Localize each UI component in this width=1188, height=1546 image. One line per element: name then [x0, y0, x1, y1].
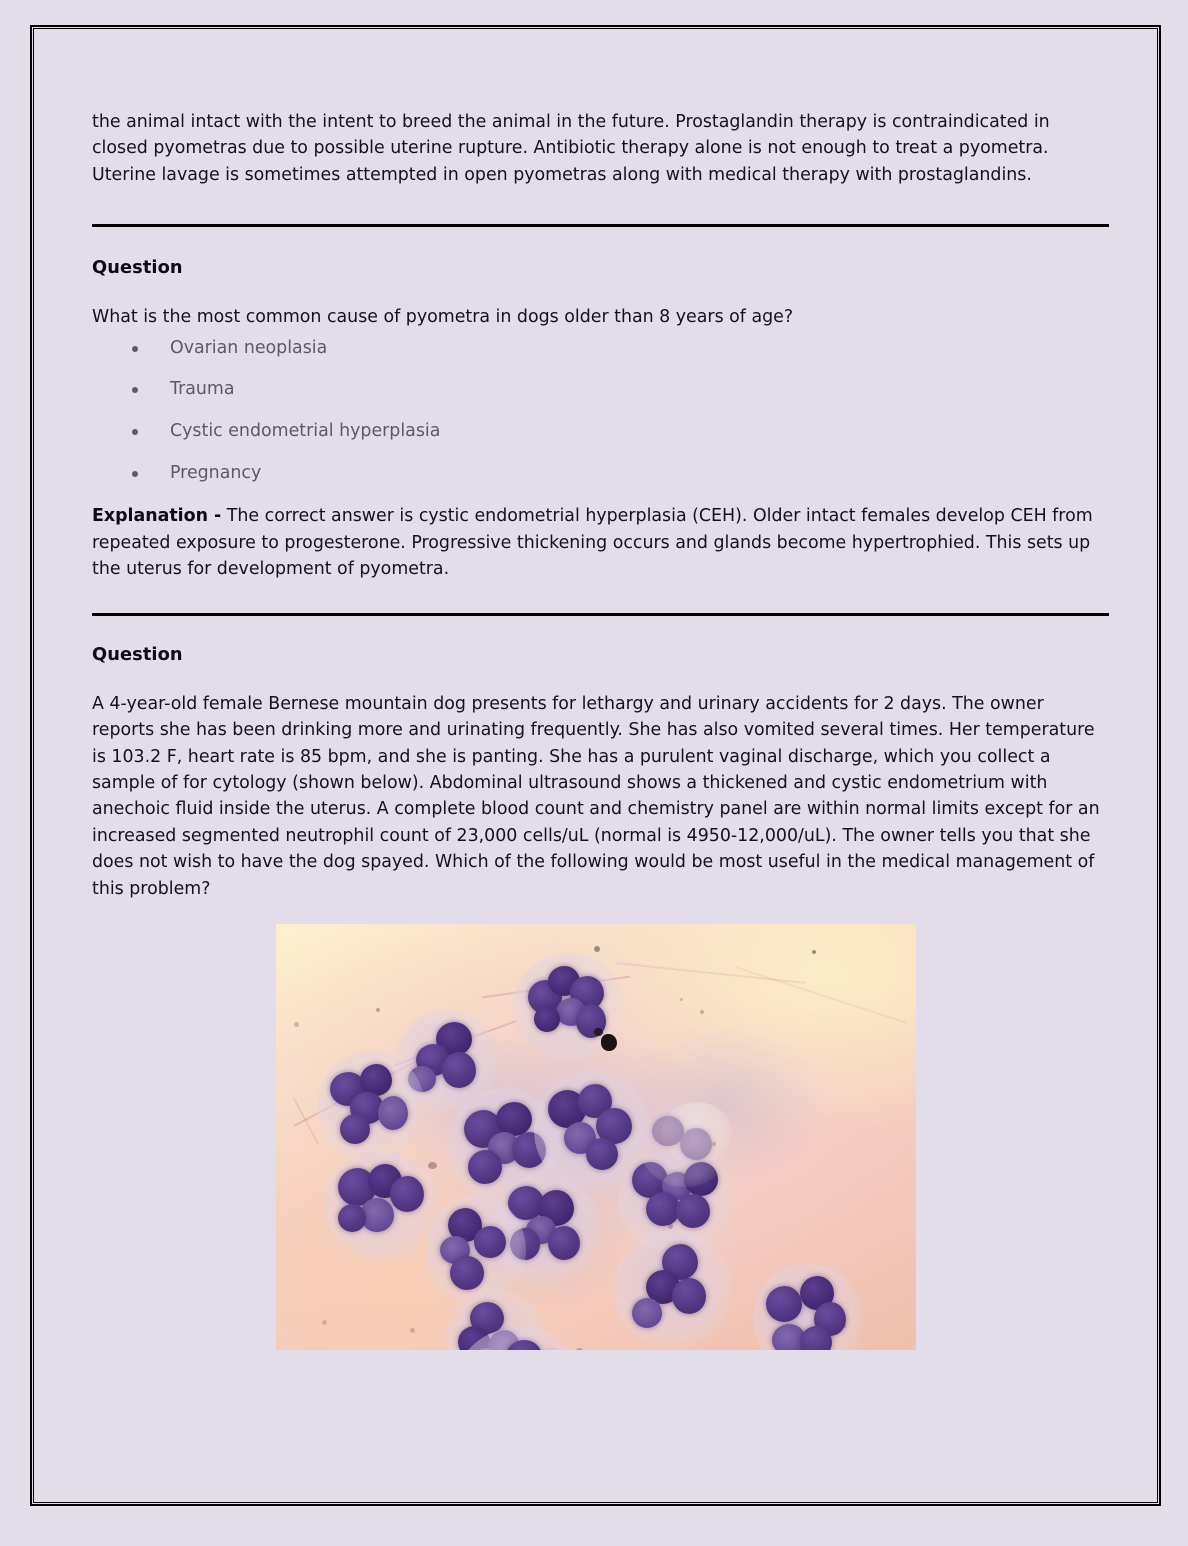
- cytoplasm: [396, 1010, 499, 1110]
- choice-label: Ovarian neoplasia: [170, 338, 327, 358]
- nucleus-lobe: [570, 976, 604, 1010]
- choice-option[interactable]: Ovarian neoplasia: [92, 337, 1100, 360]
- nucleus-lobe: [488, 1330, 520, 1350]
- stain-artifact: [594, 1028, 603, 1036]
- nucleus-lobe: [646, 1192, 680, 1226]
- nucleus-lobe: [350, 1092, 384, 1124]
- nucleus-lobe: [416, 1044, 450, 1076]
- neutrophil-cell: [548, 1084, 638, 1176]
- nucleus-lobe: [450, 1256, 484, 1290]
- nucleus-lobe: [586, 1138, 618, 1170]
- question-2-stem: A 4-year-old female Bernese mountain dog…: [92, 691, 1100, 903]
- neutrophil-cell: [438, 1208, 514, 1292]
- figure-container: [92, 924, 1100, 1350]
- nucleus-lobe: [578, 1084, 612, 1118]
- debris-speck: [428, 1162, 437, 1169]
- nucleus-lobe: [646, 1270, 680, 1304]
- mucus-strand: [482, 976, 631, 999]
- nucleus-lobe: [506, 1340, 542, 1350]
- nucleus-lobe: [470, 1302, 504, 1334]
- nucleus-lobe: [772, 1324, 806, 1350]
- neutrophil-cell: [632, 1162, 722, 1240]
- cytoplasm: [512, 953, 626, 1061]
- nucleus-lobe: [390, 1176, 424, 1212]
- nucleus-lobe: [528, 980, 562, 1014]
- nucleus-lobe: [464, 1110, 502, 1148]
- debris-speck: [294, 1022, 299, 1027]
- ghost-cell: [662, 1102, 732, 1164]
- cytoplasm-haze: [276, 924, 916, 1350]
- intro-paragraph: the animal intact with the intent to bre…: [92, 109, 1100, 188]
- debris-speck: [410, 1328, 415, 1333]
- debris-speck: [668, 1224, 673, 1229]
- nucleus-lobe: [684, 1162, 718, 1196]
- mucus-strand: [395, 1020, 518, 1066]
- cytoplasm: [456, 1327, 585, 1350]
- nucleus-lobe: [662, 1244, 698, 1280]
- nucleus-lobe: [472, 1348, 500, 1350]
- cytoplasm: [448, 1088, 562, 1204]
- nucleus-lobe: [510, 1228, 540, 1260]
- neutrophil-cell: [766, 1276, 850, 1350]
- neutrophil-cell: [816, 1342, 876, 1350]
- bullet-icon: [132, 346, 138, 352]
- nucleus-lobe: [766, 1286, 802, 1322]
- nucleus-lobe: [814, 1302, 846, 1336]
- debris-speck: [322, 1320, 327, 1325]
- nucleus-lobe: [800, 1276, 834, 1310]
- nucleus-lobe: [564, 1122, 596, 1154]
- choice-option[interactable]: Cystic endometrial hyperplasia: [92, 420, 1100, 443]
- cytoplasm: [618, 1150, 737, 1253]
- nucleus-lobe: [508, 1186, 544, 1220]
- nucleus-lobe: [632, 1298, 662, 1328]
- section-divider-1: [92, 224, 1109, 227]
- cytoplasm: [614, 1230, 733, 1349]
- nucleus-lobe: [378, 1096, 408, 1130]
- mucus-strand: [616, 962, 805, 984]
- nucleus-lobe: [548, 1226, 580, 1260]
- nucleus-lobe: [458, 1326, 490, 1350]
- nucleus-lobe: [440, 1236, 470, 1264]
- neutrophil-cell: [628, 1244, 718, 1334]
- cytoplasm: [491, 1173, 602, 1284]
- cytoplasm: [753, 1263, 864, 1350]
- nucleus-lobe: [512, 1132, 546, 1168]
- neutrophil-cell: [408, 1022, 486, 1098]
- debris-speck: [576, 1348, 583, 1350]
- nucleus-lobe: [548, 966, 580, 996]
- document-page: the animal intact with the intent to bre…: [33, 28, 1158, 1503]
- nucleus-lobe: [548, 1090, 586, 1128]
- neutrophil-cell: [526, 966, 612, 1048]
- debris-speck: [680, 998, 683, 1001]
- nucleus-lobe: [538, 1190, 574, 1226]
- nucleus-lobe: [632, 1162, 668, 1198]
- nucleus-lobe: [436, 1022, 472, 1056]
- nucleus-lobe: [662, 1172, 692, 1200]
- nucleus-lobe: [800, 1326, 832, 1350]
- nucleus-lobe: [496, 1102, 532, 1136]
- bullet-icon: [132, 471, 138, 477]
- choice-label: Pregnancy: [170, 463, 261, 483]
- nucleus-lobe: [652, 1116, 684, 1146]
- nucleus-lobe: [474, 1226, 506, 1258]
- cytoplasm: [446, 1290, 546, 1350]
- neutrophil-cell: [650, 1112, 720, 1176]
- nucleus-lobe: [576, 1004, 606, 1038]
- nucleus-lobe: [338, 1168, 376, 1206]
- nucleus-lobe: [534, 1006, 560, 1032]
- neutrophil-cell: [462, 1102, 548, 1190]
- stain-artifact: [601, 1034, 617, 1051]
- nucleus-lobe: [672, 1278, 706, 1314]
- cytoplasm: [324, 1151, 443, 1259]
- nucleus-lobe: [408, 1066, 436, 1092]
- debris-speck: [842, 1324, 846, 1328]
- choice-label: Trauma: [170, 379, 235, 399]
- nucleus-lobe: [488, 1132, 520, 1164]
- cytoplasm: [534, 1070, 653, 1191]
- choice-label: Cystic endometrial hyperplasia: [170, 421, 440, 441]
- bullet-icon: [132, 387, 138, 393]
- neutrophil-cell: [504, 1186, 588, 1270]
- explanation-body-text: The correct answer is cystic endometrial…: [92, 506, 1093, 579]
- mucus-strand: [735, 967, 907, 1025]
- debris-speck: [712, 1142, 716, 1146]
- mucus-strand: [294, 1060, 419, 1127]
- page-content: the animal intact with the intent to bre…: [92, 109, 1100, 1350]
- debris-speck: [594, 946, 600, 952]
- bullet-icon: [132, 429, 138, 435]
- explanation-lead-label: Explanation -: [92, 506, 221, 526]
- neutrophil-cell: [458, 1302, 534, 1350]
- cytoplasm: [317, 1051, 425, 1162]
- nucleus-lobe: [468, 1150, 502, 1184]
- question-2-heading: Question: [92, 644, 1100, 665]
- neutrophil-cell: [330, 1064, 412, 1148]
- neutrophil-cell: [338, 1164, 428, 1246]
- nucleus-lobe: [676, 1194, 710, 1228]
- section-divider-2: [92, 613, 1109, 616]
- debris-speck: [812, 950, 816, 954]
- mucus-strand: [293, 1098, 319, 1145]
- nucleus-lobe: [442, 1052, 476, 1088]
- nucleus-lobe: [338, 1204, 366, 1232]
- cytoplasm: [426, 1195, 526, 1306]
- nucleus-lobe: [526, 1216, 556, 1244]
- choice-option[interactable]: Pregnancy: [92, 462, 1100, 485]
- nucleus-lobe: [680, 1128, 712, 1160]
- nucleus-lobe: [330, 1072, 366, 1106]
- question-1-heading: Question: [92, 257, 1100, 278]
- debris-speck: [700, 1010, 704, 1014]
- nucleus-lobe: [448, 1208, 482, 1242]
- debris-speck: [376, 1008, 380, 1012]
- choice-option[interactable]: Trauma: [92, 378, 1100, 401]
- nucleus-lobe: [596, 1108, 632, 1144]
- nucleus-lobe: [556, 998, 586, 1026]
- question-1-stem: What is the most common cause of pyometr…: [92, 304, 1100, 330]
- nucleus-lobe: [340, 1114, 370, 1144]
- neutrophil-cell: [472, 1340, 570, 1350]
- question-1-choice-list: Ovarian neoplasia Trauma Cystic endometr…: [92, 337, 1100, 485]
- nucleus-lobe: [368, 1164, 402, 1198]
- question-1-explanation: Explanation - The correct answer is cyst…: [92, 503, 1100, 582]
- nucleus-lobe: [360, 1064, 392, 1096]
- cytology-micrograph: [276, 924, 916, 1350]
- cytoplasm: [639, 1102, 731, 1186]
- nucleus-lobe: [360, 1198, 394, 1232]
